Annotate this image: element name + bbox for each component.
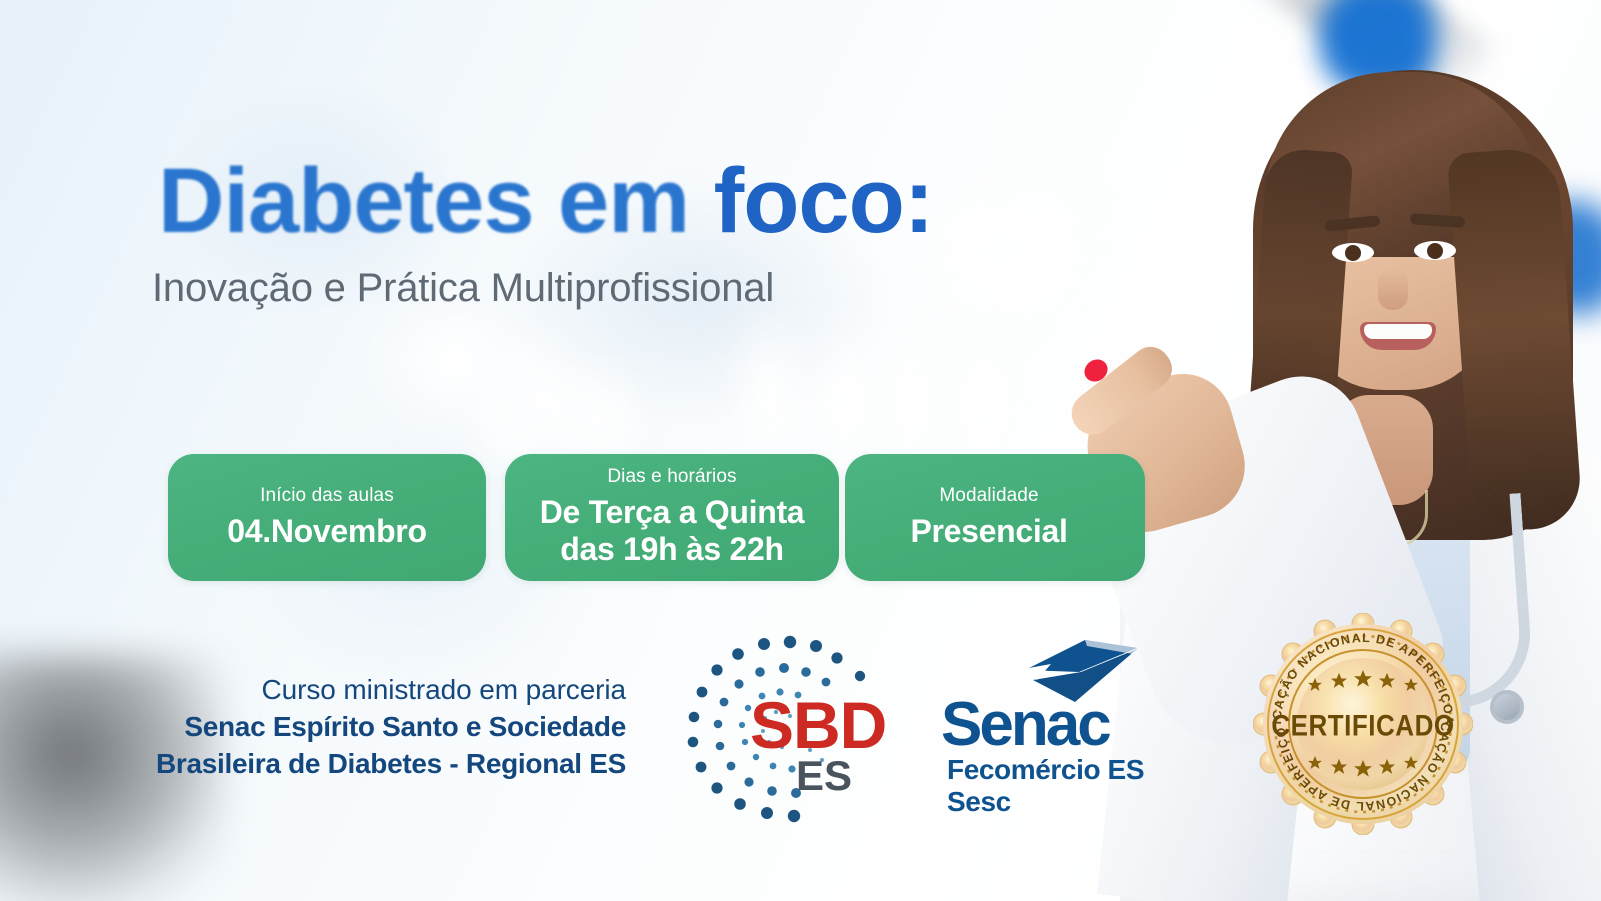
info-card-modality: Modalidade Presencial — [845, 454, 1145, 581]
info-card-inner: Início das aulas 04.Novembro — [227, 485, 426, 551]
pupil-right — [1427, 243, 1443, 259]
partnership-line-2: Senac Espírito Santo e Sociedade — [0, 709, 626, 746]
info-card-label: Dias e horários — [540, 466, 805, 489]
partnership-line-3: Brasileira de Diabetes - Regional ES — [0, 746, 626, 783]
info-card-value-line1: De Terça a Quinta — [540, 494, 805, 532]
senac-fecomercio-label: Fecomércio ES — [947, 754, 1144, 786]
info-card-value-rest: Novembro — [271, 513, 427, 549]
sbd-region-label: ES — [796, 755, 852, 797]
mouth — [1360, 322, 1436, 350]
headline-part-main: Diabetes em — [158, 150, 714, 252]
page-subtitle: Inovação e Prática Multiprofissional — [152, 266, 774, 311]
info-card-value: De Terça a Quinta das 19h às 22h — [540, 494, 805, 570]
partnership-text: Curso ministrado em parceria Senac Espír… — [0, 672, 626, 783]
certificate-seal: CERTIFICAÇÃO NACIONAL DE APERFEIÇOAMENTO… — [1253, 613, 1473, 835]
sbd-logo: SBD ES — [672, 632, 912, 827]
eye-right — [1414, 241, 1456, 260]
teeth — [1364, 324, 1432, 339]
nose — [1378, 268, 1408, 310]
page-title: Diabetes em foco: — [158, 155, 933, 247]
info-card-inner: Modalidade Presencial — [910, 485, 1067, 551]
senac-sesc-label: Sesc — [947, 786, 1011, 818]
info-card-value: 04.Novembro — [227, 513, 426, 551]
info-card-value: Presencial — [910, 513, 1067, 551]
partnership-line-1: Curso ministrado em parceria — [0, 672, 626, 709]
info-card-value-line2: das 19h às 22h — [540, 531, 805, 569]
sbd-wordmark: SBD — [750, 692, 886, 758]
course-promo-banner: Diabetes em foco: Inovação e Prática Mul… — [0, 0, 1601, 901]
info-card-schedule: Dias e horários De Terça a Quinta das 19… — [505, 454, 839, 581]
info-card-inner: Dias e horários De Terça a Quinta das 19… — [540, 466, 805, 569]
pupil-left — [1345, 245, 1361, 261]
info-card-value-bold: 04. — [227, 513, 271, 549]
headline-part-accent: foco: — [714, 150, 934, 252]
info-card-label: Início das aulas — [227, 485, 426, 508]
senac-logo: Senac Fecomércio ES Sesc — [935, 636, 1190, 826]
stethoscope-bell — [1490, 690, 1524, 724]
info-card-start-date: Início das aulas 04.Novembro — [168, 454, 486, 581]
eye-left — [1332, 243, 1374, 262]
senac-wordmark: Senac — [941, 694, 1109, 756]
seal-center-label: CERTIFICADO — [1253, 708, 1473, 744]
info-card-label: Modalidade — [910, 485, 1067, 508]
